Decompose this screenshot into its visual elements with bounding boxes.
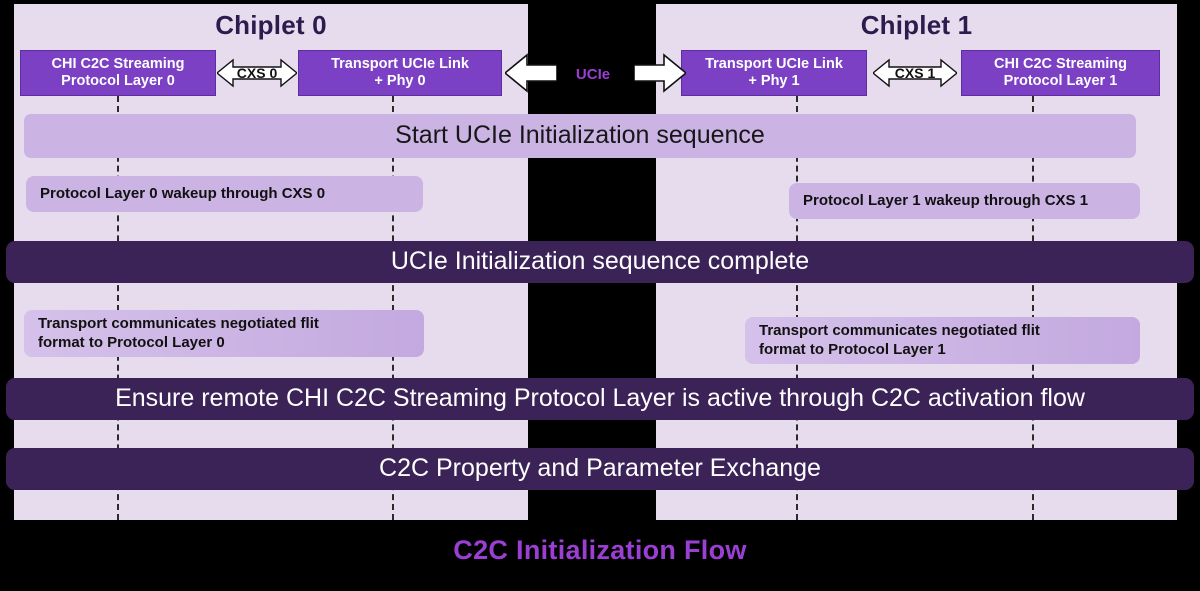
step-protocol-layer-0-wakeup[interactable]: Protocol Layer 0 wakeup through CXS 0 bbox=[26, 176, 423, 212]
step-protocol-layer-1-wakeup[interactable]: Protocol Layer 1 wakeup through CXS 1 bbox=[789, 183, 1140, 219]
step-ensure-remote-protocol-layer-active-label: Ensure remote CHI C2C Streaming Protocol… bbox=[115, 385, 1085, 413]
transport-ucie-link-phy-1-label: Transport UCIe Link + Phy 1 bbox=[705, 56, 843, 90]
step-transport-flit-format-layer-1-label: Transport communicates negotiated flit f… bbox=[759, 322, 1040, 360]
transport-ucie-link-phy-0-box[interactable]: Transport UCIe Link + Phy 0 bbox=[298, 50, 502, 96]
step-ucie-initialization-sequence-complete-label: UCIe Initialization sequence complete bbox=[391, 248, 809, 276]
cxs-1-label: CXS 1 bbox=[873, 65, 957, 81]
transport-ucie-link-phy-1-box[interactable]: Transport UCIe Link + Phy 1 bbox=[681, 50, 867, 96]
step-protocol-layer-0-wakeup-label: Protocol Layer 0 wakeup through CXS 0 bbox=[40, 185, 325, 204]
c2c-initialization-flow-diagram: Chiplet 0 Chiplet 1 CHI C2C Streaming Pr… bbox=[0, 0, 1200, 591]
ucie-link-label: UCIe bbox=[548, 66, 638, 83]
chiplet-1-title: Chiplet 1 bbox=[656, 10, 1177, 41]
step-transport-flit-format-layer-0-label: Transport communicates negotiated flit f… bbox=[38, 315, 319, 353]
chi-c2c-streaming-protocol-layer-0-label: CHI C2C Streaming Protocol Layer 0 bbox=[52, 56, 185, 90]
step-protocol-layer-1-wakeup-label: Protocol Layer 1 wakeup through CXS 1 bbox=[803, 192, 1088, 211]
step-c2c-property-parameter-exchange[interactable]: C2C Property and Parameter Exchange bbox=[6, 448, 1194, 490]
step-ucie-initialization-sequence-complete[interactable]: UCIe Initialization sequence complete bbox=[6, 241, 1194, 283]
diagram-footer-title: C2C Initialization Flow bbox=[0, 535, 1200, 566]
step-start-ucie-initialization-sequence-label: Start UCIe Initialization sequence bbox=[395, 122, 765, 150]
chi-c2c-streaming-protocol-layer-1-label: CHI C2C Streaming Protocol Layer 1 bbox=[994, 56, 1127, 90]
chi-c2c-streaming-protocol-layer-0-box[interactable]: CHI C2C Streaming Protocol Layer 0 bbox=[20, 50, 216, 96]
chiplet-0-title: Chiplet 0 bbox=[14, 10, 528, 41]
transport-ucie-link-phy-0-label: Transport UCIe Link + Phy 0 bbox=[331, 56, 469, 90]
step-start-ucie-initialization-sequence[interactable]: Start UCIe Initialization sequence bbox=[24, 114, 1136, 158]
cxs-0-label: CXS 0 bbox=[217, 65, 297, 81]
chi-c2c-streaming-protocol-layer-1-box[interactable]: CHI C2C Streaming Protocol Layer 1 bbox=[961, 50, 1160, 96]
step-ensure-remote-protocol-layer-active[interactable]: Ensure remote CHI C2C Streaming Protocol… bbox=[6, 378, 1194, 420]
step-transport-flit-format-layer-1[interactable]: Transport communicates negotiated flit f… bbox=[745, 317, 1140, 364]
ucie-right-arrow-icon bbox=[634, 53, 686, 93]
step-c2c-property-parameter-exchange-label: C2C Property and Parameter Exchange bbox=[379, 455, 821, 483]
step-transport-flit-format-layer-0[interactable]: Transport communicates negotiated flit f… bbox=[24, 310, 424, 357]
